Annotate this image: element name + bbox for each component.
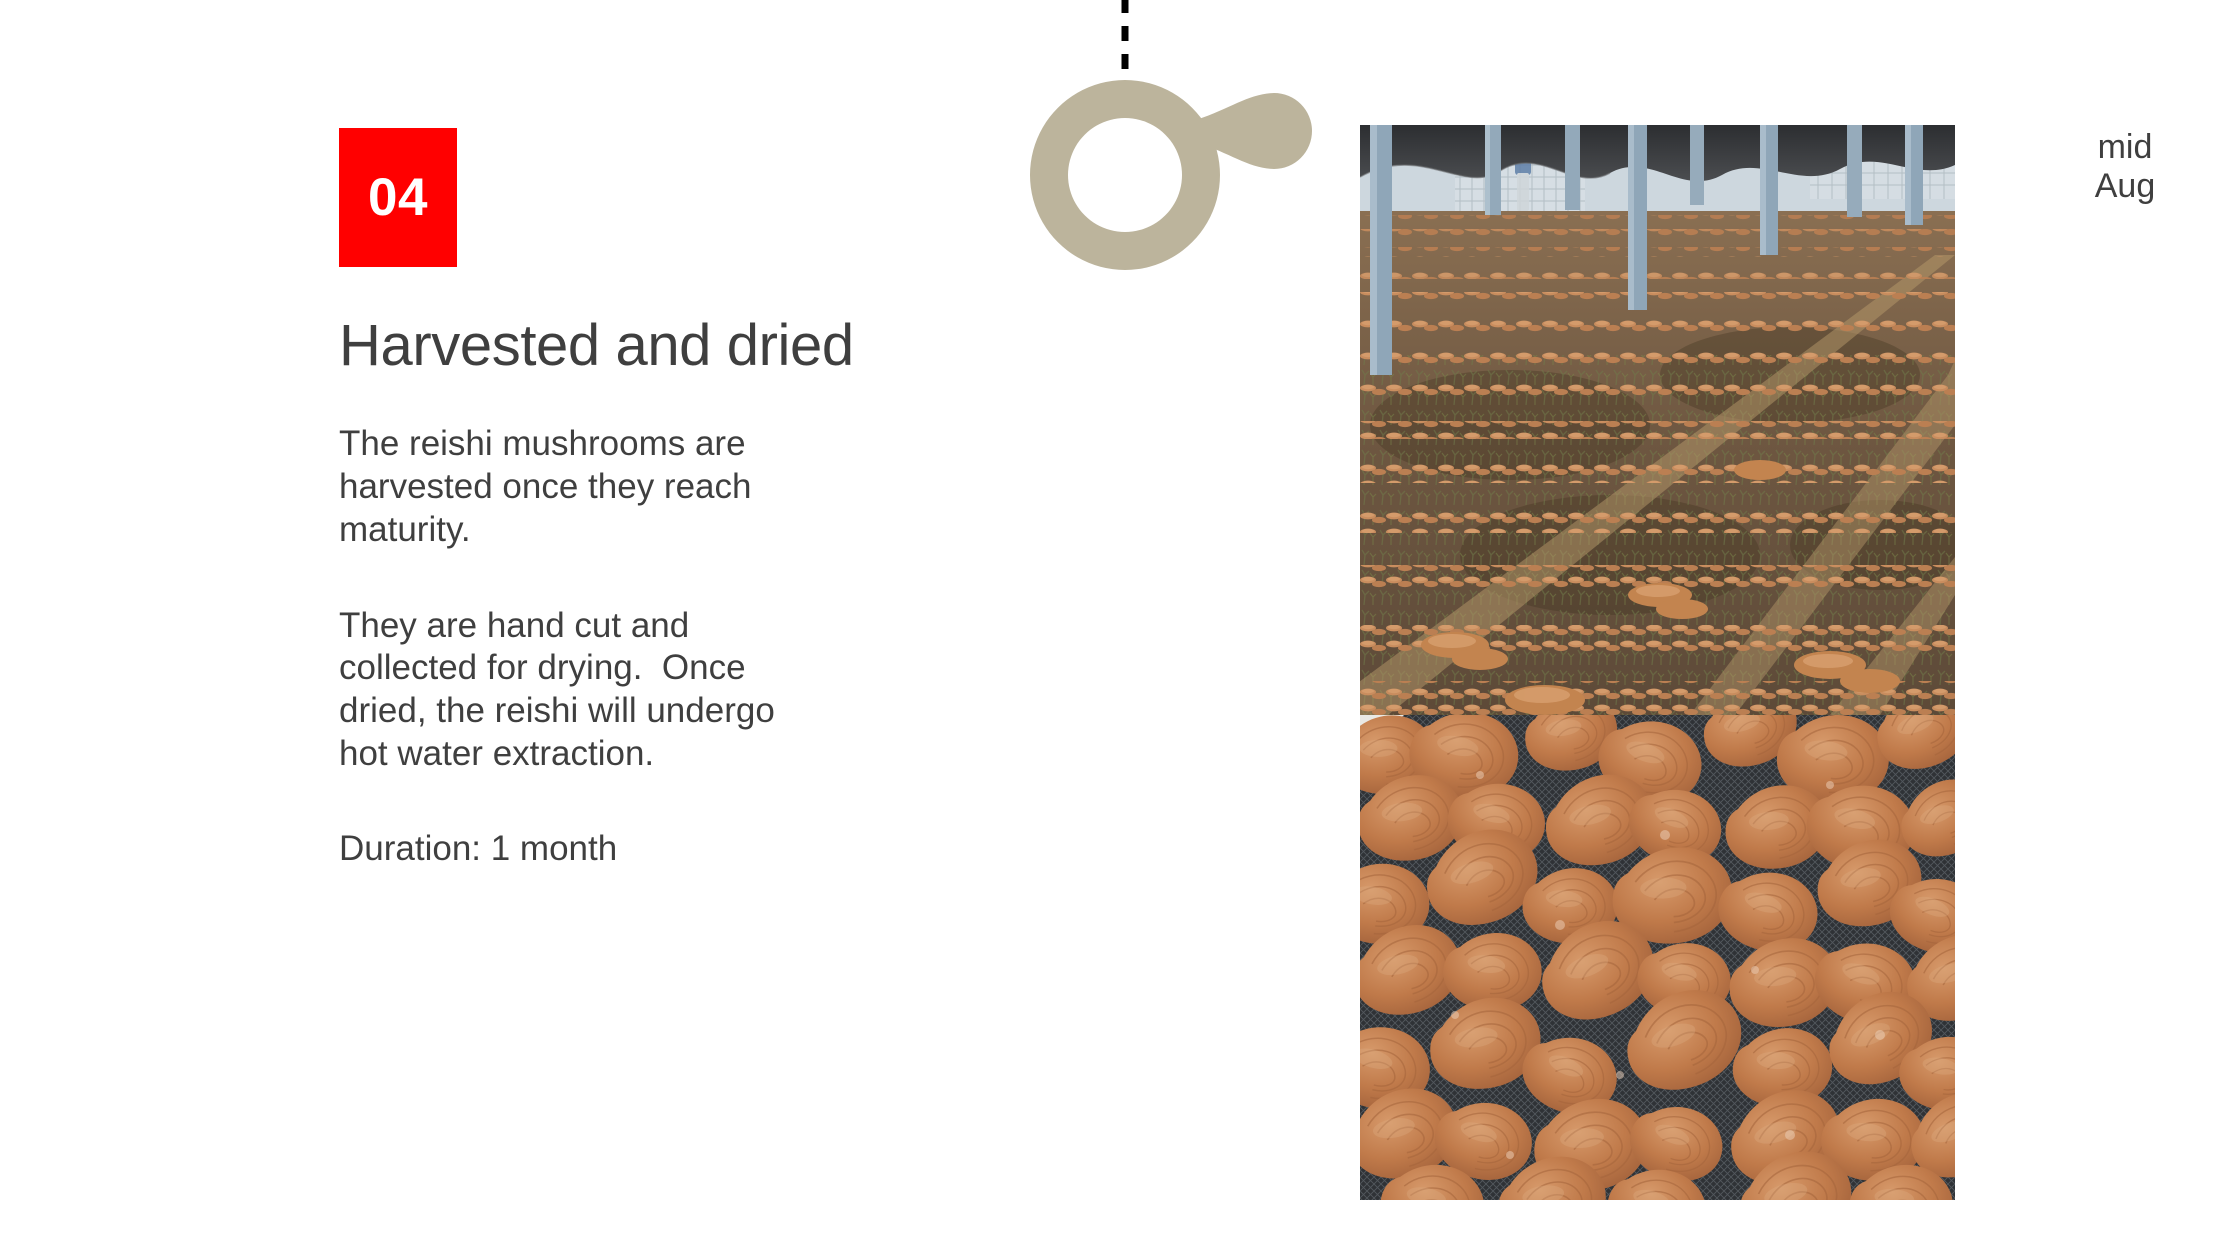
drying-reishi-caps — [1360, 715, 1955, 1200]
timeline-marker-label: mid Aug — [2032, 128, 2218, 206]
page-title: Harvested and dried — [339, 315, 859, 376]
timeline-marker-shape — [1030, 80, 1312, 270]
timeline-marker-label-line2: Aug — [2032, 167, 2218, 206]
photo-stack — [1360, 125, 1955, 1200]
timeline-marker-label-line1: mid — [2032, 128, 2218, 167]
photo-harvested-reishi-drying — [1360, 715, 1955, 1200]
timeline-marker: mid Aug — [1010, 0, 1350, 290]
text-column: 04 Harvested and dried The reishi mushro… — [339, 128, 979, 871]
body-paragraph-2: They are hand cut and collected for dryi… — [339, 605, 809, 776]
step-number-label: 04 — [368, 171, 428, 224]
photo-greenhouse-reishi-rows — [1360, 125, 1955, 715]
slide-canvas: 04 Harvested and dried The reishi mushro… — [0, 0, 2240, 1260]
duration-text: Duration: 1 month — [339, 828, 899, 871]
body-paragraph-1: The reishi mushrooms are harvested once … — [339, 423, 769, 551]
step-number-badge: 04 — [339, 128, 457, 267]
